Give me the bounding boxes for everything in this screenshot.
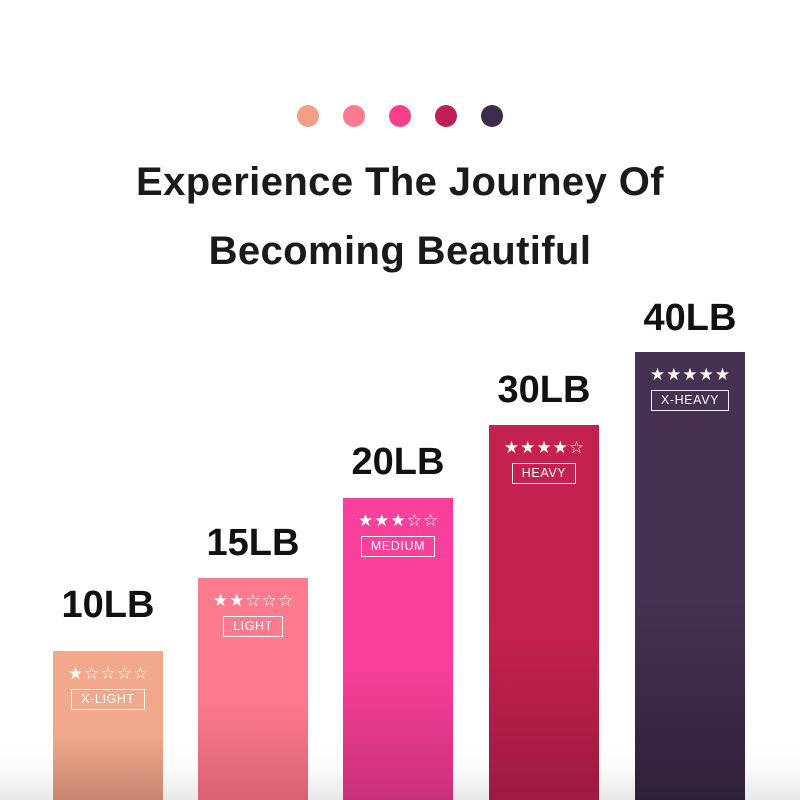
rating-stars: ★★★★★ (650, 366, 730, 383)
star-empty-icon: ☆ (569, 439, 584, 456)
bar-group-40lb: 40LB★★★★★X-HEAVY (635, 299, 745, 800)
bar-value-label: 40LB (644, 299, 737, 337)
infographic-root: Experience The Journey Of Becoming Beaut… (0, 0, 800, 800)
star-filled-icon: ★ (666, 366, 681, 383)
tier-badge: LIGHT (223, 616, 283, 637)
star-filled-icon: ★ (390, 512, 405, 529)
star-empty-icon: ☆ (407, 512, 422, 529)
star-filled-icon: ★ (650, 366, 665, 383)
bar-20lb[interactable]: ★★★☆☆MEDIUM (343, 498, 453, 800)
bar-value-label: 15LB (207, 524, 300, 562)
star-filled-icon: ★ (536, 439, 551, 456)
bar-group-30lb: 30LB★★★★☆HEAVY (489, 371, 599, 800)
star-empty-icon: ☆ (245, 592, 260, 609)
bar-40lb[interactable]: ★★★★★X-HEAVY (635, 352, 745, 800)
star-filled-icon: ★ (68, 665, 83, 682)
tier-badge: HEAVY (512, 463, 576, 484)
star-filled-icon: ★ (504, 439, 519, 456)
bar-group-20lb: 20LB★★★☆☆MEDIUM (343, 443, 453, 800)
star-filled-icon: ★ (229, 592, 244, 609)
bar-value-label: 30LB (498, 371, 591, 409)
star-empty-icon: ☆ (262, 592, 277, 609)
bar-group-15lb: 15LB★★☆☆☆LIGHT (198, 524, 308, 800)
bar-15lb[interactable]: ★★☆☆☆LIGHT (198, 578, 308, 800)
tier-badge: X-LIGHT (71, 689, 145, 710)
star-empty-icon: ☆ (84, 665, 99, 682)
resistance-bar-chart: 10LB★☆☆☆☆X-LIGHT15LB★★☆☆☆LIGHT20LB★★★☆☆M… (0, 0, 800, 800)
bar-badge-wrap: ★★★★★X-HEAVY (635, 366, 745, 411)
star-filled-icon: ★ (520, 439, 535, 456)
star-empty-icon: ☆ (100, 665, 115, 682)
star-filled-icon: ★ (699, 366, 714, 383)
star-filled-icon: ★ (213, 592, 228, 609)
bar-badge-wrap: ★★★★☆HEAVY (489, 439, 599, 484)
rating-stars: ★★☆☆☆ (213, 592, 293, 609)
star-filled-icon: ★ (553, 439, 568, 456)
star-empty-icon: ☆ (423, 512, 438, 529)
star-empty-icon: ☆ (117, 665, 132, 682)
rating-stars: ★★★★☆ (504, 439, 584, 456)
bar-30lb[interactable]: ★★★★☆HEAVY (489, 425, 599, 800)
tier-badge: X-HEAVY (651, 390, 729, 411)
tier-badge: MEDIUM (361, 536, 435, 557)
star-filled-icon: ★ (682, 366, 697, 383)
star-empty-icon: ☆ (133, 665, 148, 682)
bar-value-label: 10LB (62, 586, 155, 624)
star-filled-icon: ★ (374, 512, 389, 529)
bar-value-label: 20LB (352, 443, 445, 481)
rating-stars: ★★★☆☆ (358, 512, 438, 529)
rating-stars: ★☆☆☆☆ (68, 665, 148, 682)
bar-badge-wrap: ★★★☆☆MEDIUM (343, 512, 453, 557)
star-filled-icon: ★ (358, 512, 373, 529)
bar-10lb[interactable]: ★☆☆☆☆X-LIGHT (53, 651, 163, 800)
star-empty-icon: ☆ (278, 592, 293, 609)
bar-group-10lb: 10LB★☆☆☆☆X-LIGHT (53, 586, 163, 800)
bar-badge-wrap: ★☆☆☆☆X-LIGHT (53, 665, 163, 710)
star-filled-icon: ★ (715, 366, 730, 383)
bar-badge-wrap: ★★☆☆☆LIGHT (198, 592, 308, 637)
